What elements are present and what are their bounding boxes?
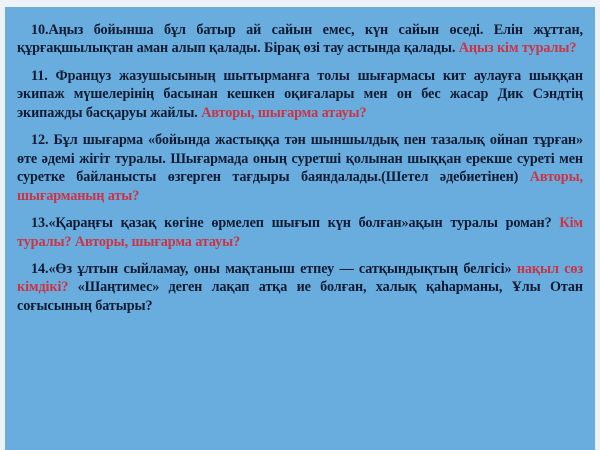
question-highlight-11: Авторы, шығарма атауы? (201, 105, 366, 121)
question-body-after-14: «Шаңтимес» деген лақап атқа ие болған, х… (17, 279, 583, 313)
question-item-13: 13.«Қараңғы қазақ көгіне өрмелеп шығып к… (17, 214, 583, 251)
question-number-13: 13. (31, 215, 48, 231)
question-number-14: 14. (31, 261, 48, 277)
question-item-10: 10.Аңыз бойынша бұл батыр ай сайын емес,… (17, 21, 583, 58)
slide-background: 10.Аңыз бойынша бұл батыр ай сайын емес,… (5, 7, 595, 450)
question-body-14: «Өз ұлтын сыйламау, оны мақтаныш етпеу —… (48, 261, 516, 277)
question-highlight-10: Аңыз кім туралы? (459, 40, 577, 56)
question-number-11: 11. (31, 68, 56, 84)
slide-canvas: 10.Аңыз бойынша бұл батыр ай сайын емес,… (0, 0, 600, 450)
question-number-10: 10. (31, 22, 48, 38)
question-item-12: 12. Бұл шығарма «бойында жастыққа тән шы… (17, 131, 583, 205)
question-number-12: 12. (31, 132, 54, 148)
question-item-14: 14.«Өз ұлтын сыйламау, оны мақтаныш етпе… (17, 260, 583, 315)
question-body-13: «Қараңғы қазақ көгіне өрмелеп шығып күн … (48, 215, 559, 231)
question-list: 10.Аңыз бойынша бұл батыр ай сайын емес,… (5, 7, 595, 450)
question-item-11: 11. Француз жазушысының шытырманға толы … (17, 67, 583, 122)
question-body-12: Бұл шығарма «бойында жастыққа тән шыншыл… (17, 132, 583, 185)
